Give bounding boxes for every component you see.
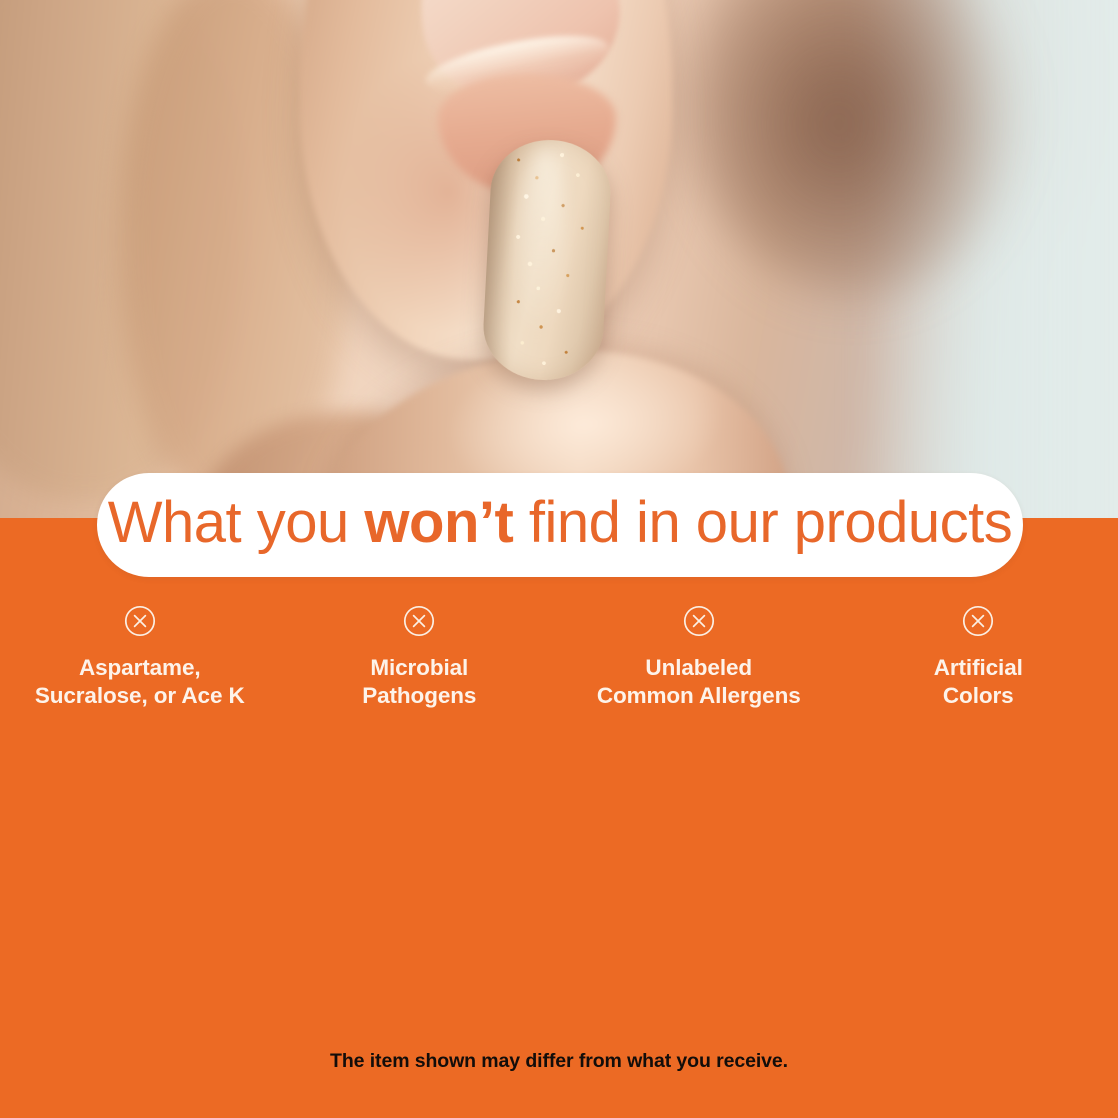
page-title: What you won’t find in our products [108,494,1012,556]
exclusion-grid: Aspartame, Sucralose, or Ace K Microbial… [0,604,1118,754]
exclusion-row-1: Aspartame, Sucralose, or Ace K Microbial… [0,604,1118,754]
exclusion-item-aspartame: Aspartame, Sucralose, or Ace K [0,604,280,734]
exclusion-label: Artificial Colors [934,654,1023,710]
title-pill: What you won’t find in our products [97,473,1023,577]
exclusion-label: Unlabeled Common Allergens [597,654,801,710]
exclusion-item-allergens: Unlabeled Common Allergens [559,604,839,734]
exclusion-item-microbial: Microbial Pathogens [280,604,560,734]
exclusion-label: Microbial Pathogens [362,654,476,710]
product-claims-poster: What you won’t find in our products Aspa… [0,0,1118,1118]
circle-x-icon [402,604,436,638]
circle-x-icon [123,604,157,638]
disclaimer-text: The item shown may differ from what you … [0,1050,1118,1073]
exclusion-item-artificial-colors: Artificial Colors [839,604,1118,734]
supplement-tablet [481,137,613,383]
circle-x-icon [682,604,716,638]
title-part-2: find in our products [513,490,1012,555]
title-emphasis: won’t [364,490,513,555]
circle-x-icon [961,604,995,638]
exclusion-label: Aspartame, Sucralose, or Ace K [35,654,245,710]
title-part-1: What you [108,490,365,555]
hero-photo [0,0,1118,520]
